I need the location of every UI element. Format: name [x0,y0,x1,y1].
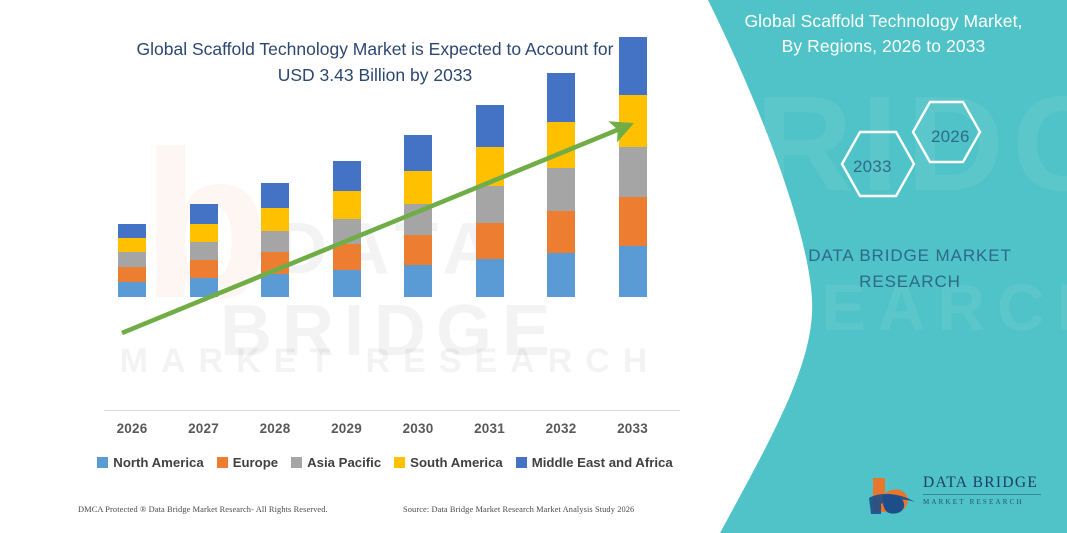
legend-swatch-icon [394,457,405,468]
bar-segment [118,267,146,282]
footer-copyright: DMCA Protected ® Data Bridge Market Rese… [78,505,328,514]
bar-segment [118,252,146,267]
bar-segment [190,224,218,243]
bar-2029 [333,161,361,297]
stacked-bar-chart: 20262027202820292030203120322033 [0,0,700,533]
legend-item[interactable]: Middle East and Africa [516,455,673,470]
bar-segment [619,37,647,95]
infographic-root: BRIDGE RESEARCH Global Scaffold Technolo… [0,0,1067,533]
panel-brand-text: DATA BRIDGE MARKET RESEARCH [760,243,1060,295]
bar-segment [333,161,361,191]
bar-segment [118,238,146,253]
legend-label: Europe [233,455,278,470]
bar-2032 [547,73,575,297]
bar-segment [476,105,504,148]
x-axis-label-2027: 2027 [174,421,234,436]
bar-segment [261,231,289,253]
bar-2026 [118,224,146,297]
bar-segment [619,197,647,247]
legend-item[interactable]: Europe [217,455,278,470]
legend-label: Middle East and Africa [532,455,673,470]
bar-segment [404,171,432,204]
legend-label: North America [113,455,203,470]
x-axis-label-2031: 2031 [460,421,520,436]
hexagon-2033-label: 2033 [853,157,892,177]
bar-segment [547,73,575,123]
bar-segment [404,204,432,235]
bar-segment [476,147,504,186]
bar-segment [476,223,504,260]
bar-segment [261,183,289,208]
bar-segment [476,186,504,223]
chart-legend: North AmericaEuropeAsia PacificSouth Ame… [85,455,685,470]
legend-swatch-icon [516,457,527,468]
x-axis-label-2026: 2026 [102,421,162,436]
bar-segment [261,252,289,274]
legend-swatch-icon [217,457,228,468]
bar-segment [619,95,647,148]
legend-swatch-icon [291,457,302,468]
bar-segment [404,135,432,171]
bar-segment [190,260,218,278]
legend-swatch-icon [97,457,108,468]
bar-segment [190,242,218,260]
panel-title: Global Scaffold Technology Market, By Re… [700,9,1067,59]
bar-segment [404,265,432,297]
x-axis-label-2030: 2030 [388,421,448,436]
logo-divider [923,494,1041,495]
bar-segment [404,235,432,266]
bar-segment [190,278,218,297]
bar-2028 [261,183,289,297]
hexagon-group: 2026 2033 [826,96,1006,221]
panel-title-line2: By Regions, 2026 to 2033 [700,34,1067,59]
logo-wordmark: DATA BRIDGE MARKET RESEARCH [923,474,1045,507]
panel-title-line1: Global Scaffold Technology Market, [700,9,1067,34]
panel-brand-line2: RESEARCH [760,269,1060,295]
hexagon-2026-label: 2026 [931,127,970,147]
bar-segment [333,244,361,270]
bar-group [0,0,700,420]
bar-2030 [404,135,432,297]
bar-2031 [476,105,504,297]
logo-main-text: DATA BRIDGE [923,474,1045,492]
bar-segment [261,208,289,231]
bar-2027 [190,204,218,297]
bar-segment [190,204,218,224]
x-axis-label-2028: 2028 [245,421,305,436]
bar-segment [619,246,647,297]
bar-segment [261,274,289,297]
bar-2033 [619,37,647,297]
legend-label: Asia Pacific [307,455,381,470]
bar-segment [118,282,146,297]
logo-sub-text: MARKET RESEARCH [923,497,1045,507]
bar-segment [333,270,361,297]
x-axis-label-2033: 2033 [603,421,663,436]
legend-item[interactable]: South America [394,455,503,470]
panel-brand-line1: DATA BRIDGE MARKET [760,243,1060,269]
data-bridge-logo: DATA BRIDGE MARKET RESEARCH [865,470,1045,518]
bar-segment [547,211,575,254]
footer-source: Source: Data Bridge Market Research Mark… [403,505,634,514]
x-axis-label-2032: 2032 [531,421,591,436]
bar-segment [619,147,647,197]
legend-item[interactable]: Asia Pacific [291,455,381,470]
bar-segment [333,191,361,219]
bar-segment [476,259,504,297]
bar-segment [118,224,146,238]
x-axis-labels: 20262027202820292030203120322033 [0,421,700,443]
legend-item[interactable]: North America [97,455,203,470]
logo-mark-icon [865,472,923,516]
footer: DMCA Protected ® Data Bridge Market Rese… [78,505,678,521]
bar-segment [547,122,575,168]
legend-label: South America [410,455,503,470]
x-axis-label-2029: 2029 [317,421,377,436]
bar-segment [547,253,575,297]
bar-segment [333,219,361,245]
bar-segment [547,168,575,211]
